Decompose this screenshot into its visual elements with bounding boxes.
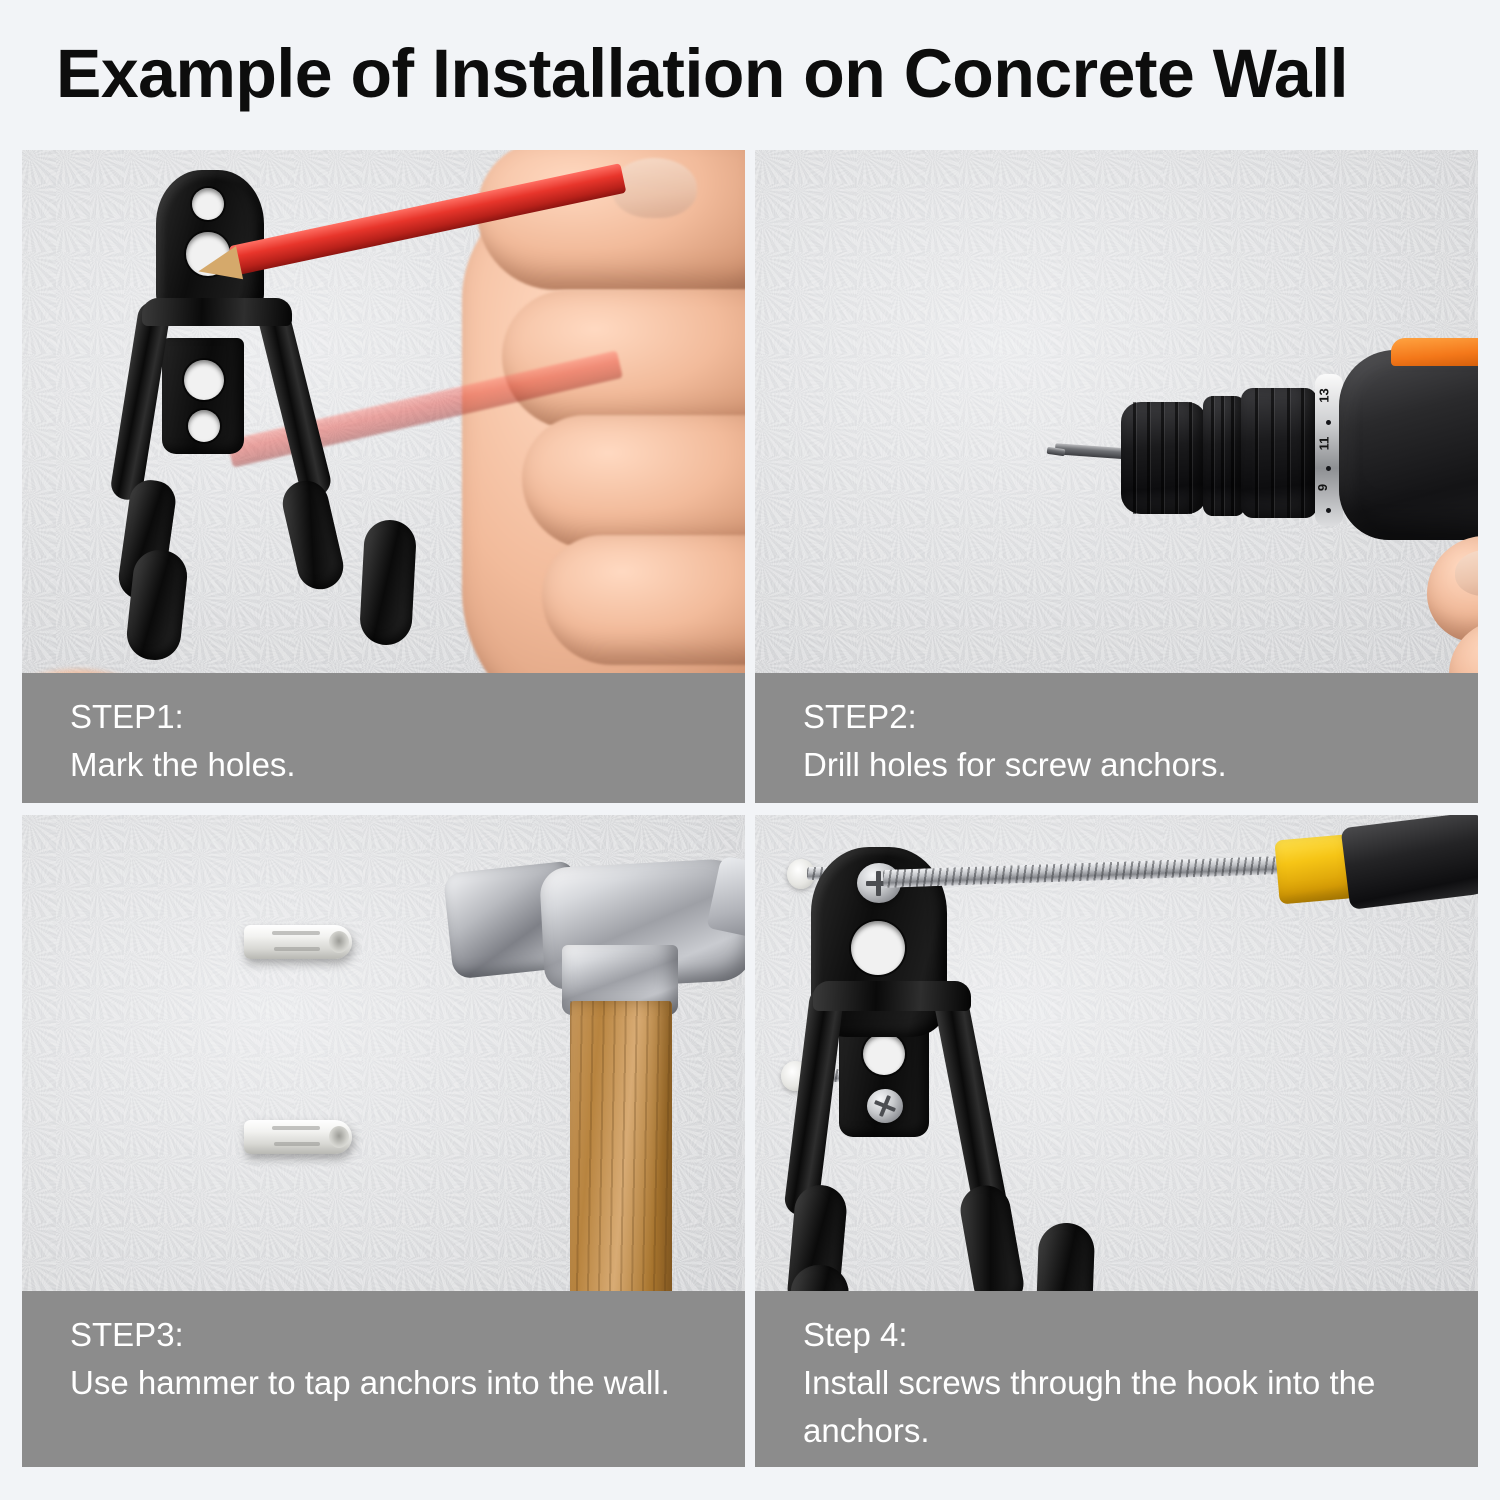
step-panel-1: STEP1: Mark the holes.: [22, 150, 745, 803]
hook-tip-left-cap: [124, 547, 189, 662]
hook-arm-right: [254, 298, 333, 500]
drill-top-accent: [1391, 338, 1478, 366]
step-caption-4: Step 4: Install screws through the hook …: [755, 1291, 1478, 1467]
step-label-1: STEP1:: [70, 693, 697, 741]
step-panel-4: Step 4: Install screws through the hook …: [755, 815, 1478, 1467]
torque-dot-2: [1326, 466, 1331, 471]
step-caption-1: STEP1: Mark the holes.: [22, 673, 745, 803]
step-caption-2: STEP2: Drill holes for screw anchors.: [755, 673, 1478, 803]
hook-hole-lower-upper: [184, 360, 224, 400]
step-label-2: STEP2:: [803, 693, 1430, 741]
torque-mark-11: 11: [1316, 437, 1331, 451]
hook-hole-lower-lower: [188, 410, 220, 442]
torque-mark-13: 13: [1317, 388, 1332, 402]
drill-collar: [1203, 396, 1245, 516]
hook-hole-lower-upper: [863, 1033, 905, 1075]
step-label-4: Step 4:: [803, 1311, 1430, 1359]
installation-steps-grid: STEP1: Mark the holes.: [22, 150, 1478, 1467]
step-text-1: Mark the holes.: [70, 741, 697, 789]
drill-clutch-sleeve: [1241, 388, 1317, 518]
torque-dot-1: [1326, 420, 1331, 425]
ring-finger: [522, 415, 745, 550]
wall-anchor-top: [244, 925, 352, 959]
hook-lower-plate: [162, 338, 244, 454]
mounted-screw-lower: [867, 1089, 903, 1123]
drill-body: [1339, 350, 1478, 540]
torque-mark-9: 9: [1315, 484, 1330, 491]
hook-saddle: [813, 981, 971, 1011]
hook-hole-upper-top: [192, 188, 224, 220]
step-caption-3: STEP3: Use hammer to tap anchors into th…: [22, 1291, 745, 1467]
screwdriver-handle[interactable]: [1341, 815, 1478, 910]
hook-arm-right: [931, 984, 1008, 1216]
drill-chuck: [1121, 402, 1207, 514]
step-text-3: Use hammer to tap anchors into the wall.: [70, 1359, 685, 1407]
page-title: Example of Installation on Concrete Wall: [56, 26, 1435, 122]
step-panel-2: 13 11 9 STEP2: Drill holes for screw anc…: [755, 150, 1478, 803]
middle-finger: [502, 290, 745, 430]
step-panel-3: STEP3: Use hammer to tap anchors into th…: [22, 815, 745, 1467]
step-text-4: Install screws through the hook into the…: [803, 1359, 1423, 1455]
hook-arm-left: [783, 985, 845, 1217]
hook-hole-upper-bottom: [851, 921, 905, 975]
step-label-3: STEP3:: [70, 1311, 697, 1359]
little-finger: [542, 535, 745, 665]
step-text-2: Drill holes for screw anchors.: [803, 741, 1430, 789]
torque-dot-3: [1326, 508, 1331, 513]
hook-tip-right-cap: [359, 519, 417, 647]
hook-tip-right: [278, 476, 348, 594]
hook-saddle: [142, 298, 292, 326]
wall-anchor-bottom: [244, 1120, 352, 1154]
